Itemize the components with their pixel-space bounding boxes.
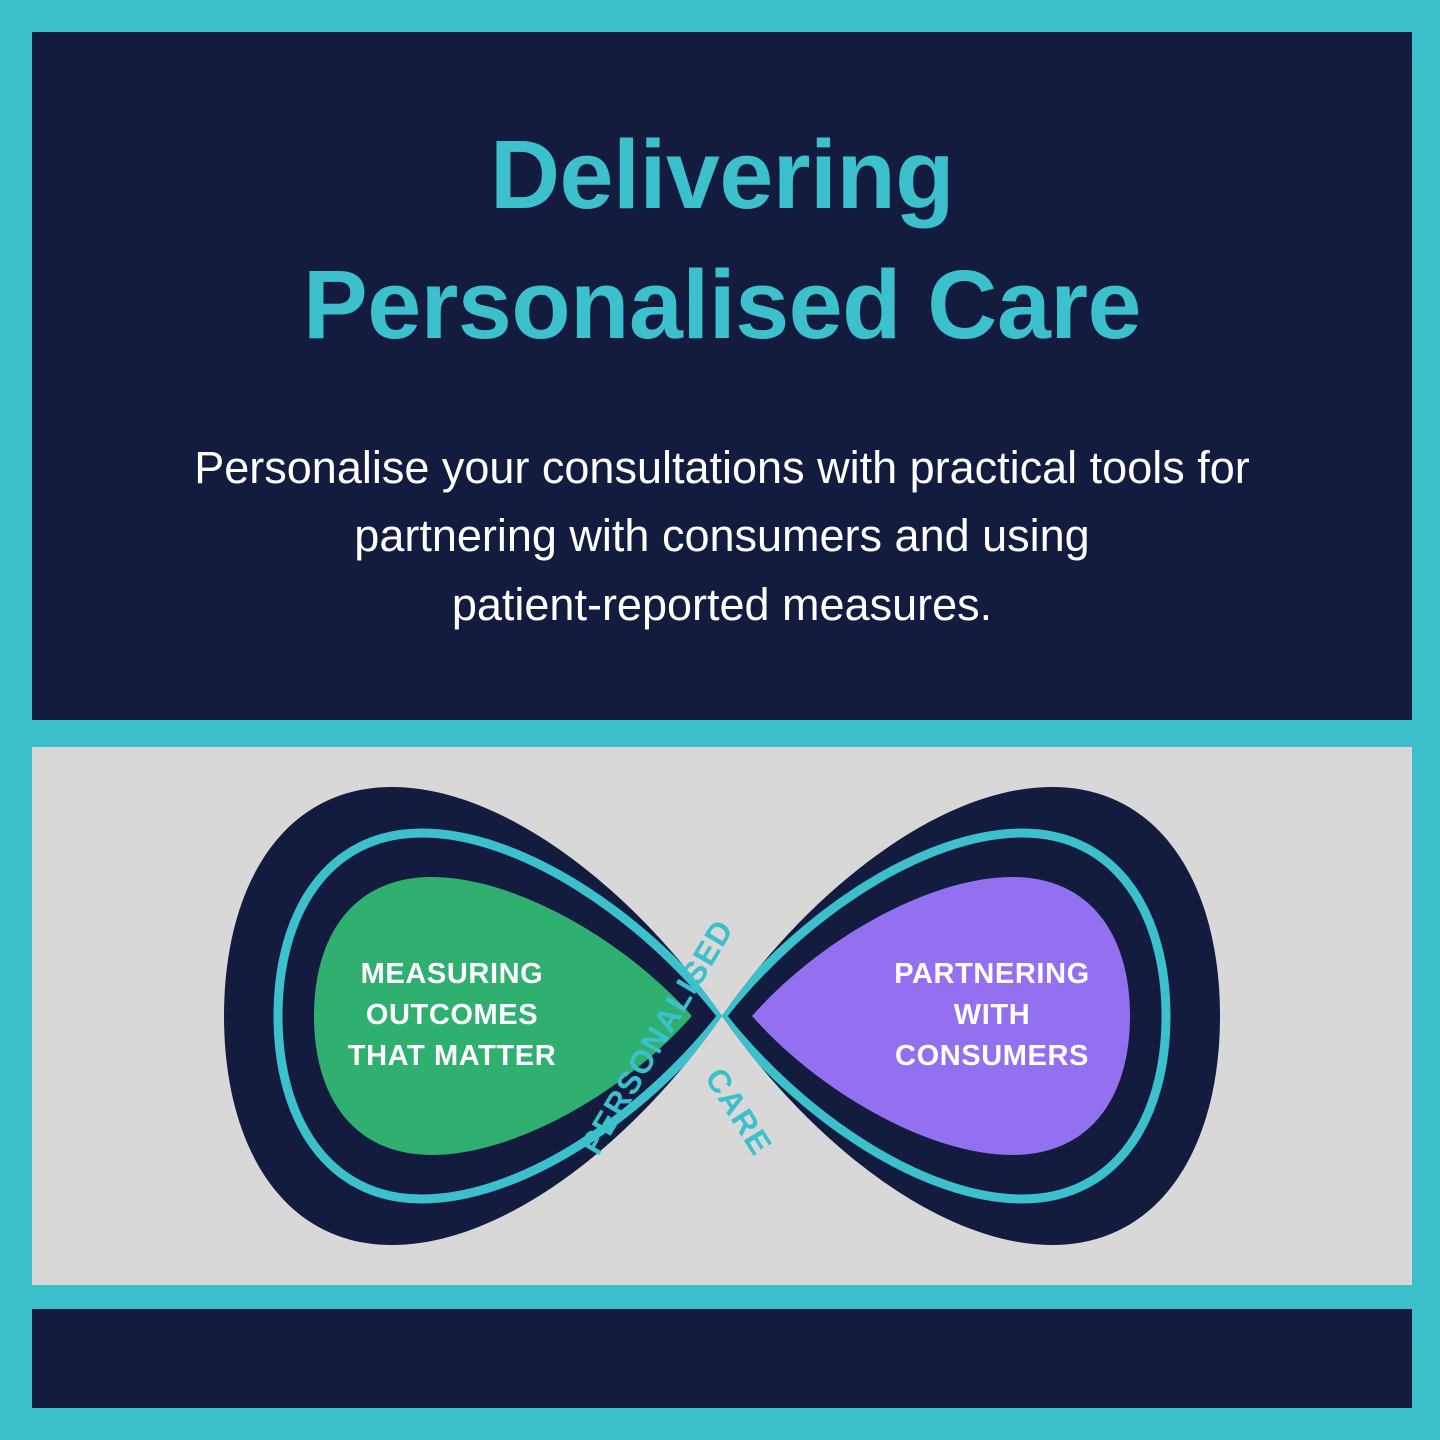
page-subtitle-line-2: partnering with consumers and using — [142, 502, 1302, 570]
poster-canvas: Delivering Personalised Care Personalise… — [0, 0, 1440, 1440]
infinity-loop-diagram: PERSONALISED CARE — [32, 747, 1412, 1285]
page-title-line-1: Delivering — [32, 110, 1412, 240]
header-panel: Delivering Personalised Care Personalise… — [32, 32, 1412, 720]
page-subtitle: Personalise your consultations with prac… — [142, 434, 1302, 639]
page-subtitle-line-3: patient-reported measures. — [142, 571, 1302, 639]
page-subtitle-line-1: Personalise your consultations with prac… — [142, 434, 1302, 502]
page-title-line-2: Personalised Care — [32, 240, 1412, 370]
diagram-panel: PERSONALISED CARE MEASURING OUTCOMES THA… — [32, 747, 1412, 1285]
footer-bar — [32, 1309, 1412, 1408]
center-label-care: CARE — [698, 1062, 779, 1162]
page-title: Delivering Personalised Care — [32, 110, 1412, 370]
center-label-care-text: CARE — [698, 1062, 779, 1162]
